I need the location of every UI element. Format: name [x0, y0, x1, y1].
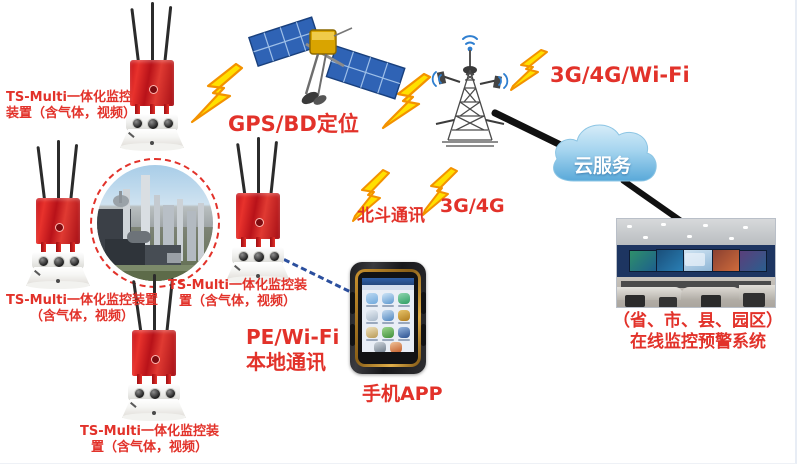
network-topology-diagram: 云服务 — [0, 0, 797, 464]
cloud-icon: 云服务 — [543, 113, 667, 191]
label-device-mid-left-line1: TS-Multi一体化监控装置 — [6, 293, 158, 309]
label-3g4g: 3G/4G — [440, 195, 505, 219]
label-control-center-line1: （省、市、县、园区） — [613, 311, 783, 332]
label-device-mid-right: TS-Multi一体化监控装 置（含气体，视频） — [168, 278, 307, 311]
label-device-bottom-line2: 置（含气体，视频） — [80, 440, 219, 456]
ts-multi-monitor-device-icon — [110, 2, 196, 150]
label-device-top-left: TS-Multi一体化监控 装置（含气体，视频） — [6, 90, 136, 123]
satellite-icon — [248, 8, 408, 118]
industrial-plant-photo — [97, 165, 213, 281]
label-device-mid-right-line1: TS-Multi一体化监控装 — [168, 278, 307, 294]
rugged-tablet-icon — [350, 262, 426, 374]
label-device-mid-right-line2: 置（含气体，视频） — [168, 294, 307, 310]
label-device-top-left-line1: TS-Multi一体化监控 — [6, 90, 136, 106]
label-device-bottom-line1: TS-Multi一体化监控装 — [80, 424, 219, 440]
label-control-center-line2: 在线监控预警系统 — [613, 332, 783, 353]
ts-multi-monitor-device-icon — [216, 135, 302, 283]
cloud-label: 云服务 — [574, 151, 631, 178]
label-gps-bd: GPS/BD定位 — [228, 111, 359, 137]
label-device-mid-left: TS-Multi一体化监控装置 （含气体，视频） — [6, 293, 158, 326]
label-device-top-left-line2: 装置（含气体，视频） — [6, 106, 136, 122]
label-device-mid-left-line2: （含气体，视频） — [6, 309, 158, 325]
label-pe-wifi-line2: 本地通讯 — [246, 350, 339, 375]
label-pe-wifi-line1: PE/Wi-Fi — [246, 325, 339, 350]
label-control-center: （省、市、县、园区） 在线监控预警系统 — [613, 311, 783, 354]
control-room-photo — [616, 218, 776, 308]
label-beidou: 北斗通讯 — [357, 206, 425, 227]
label-pe-wifi: PE/Wi-Fi 本地通讯 — [246, 325, 339, 375]
label-device-bottom: TS-Multi一体化监控装 置（含气体，视频） — [80, 424, 219, 457]
label-3g4g-wifi: 3G/4G/Wi-Fi — [550, 62, 690, 88]
label-phone-app: 手机APP — [362, 383, 443, 407]
cell-tower-icon — [424, 20, 516, 148]
ts-multi-monitor-device-icon — [16, 140, 102, 288]
